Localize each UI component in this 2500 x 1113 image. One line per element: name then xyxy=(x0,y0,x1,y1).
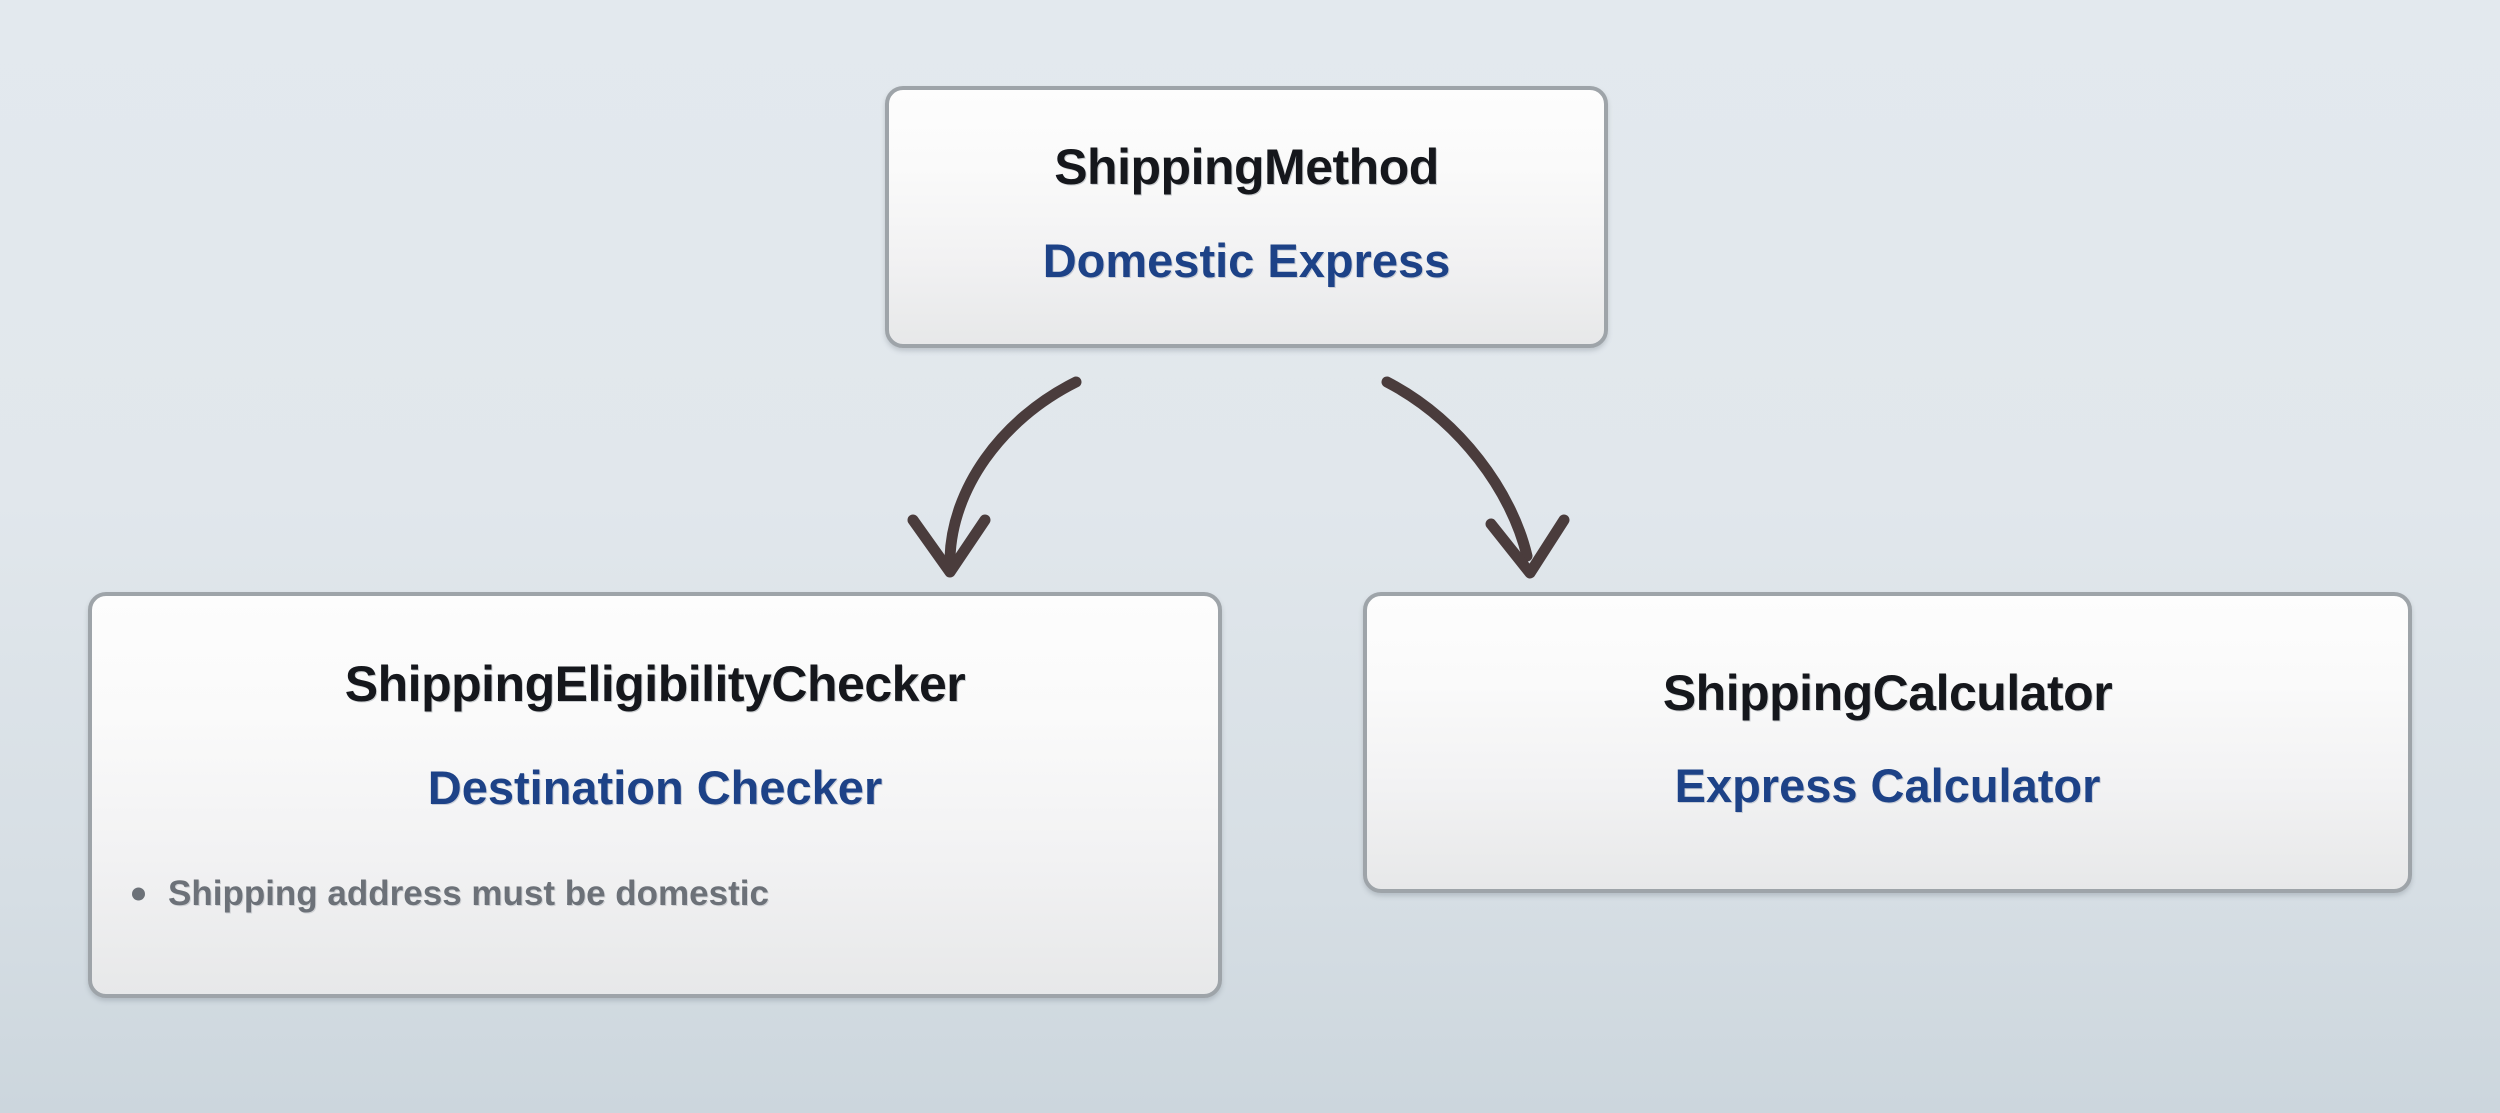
list-item: Shipping address must be domestic xyxy=(110,874,1200,914)
diagram-canvas: ShippingMethod Domestic Express Shipping… xyxy=(0,0,2500,1113)
node-title: ShippingCalculator xyxy=(1663,667,2112,720)
bullet-icon xyxy=(132,887,145,900)
node-title: ShippingEligibilityChecker xyxy=(345,658,965,711)
connector-root-to-checker xyxy=(913,382,1076,572)
node-subtitle: Destination Checker xyxy=(428,763,882,812)
node-rule-label: Shipping address must be domestic xyxy=(168,874,769,913)
node-subtitle: Domestic Express xyxy=(1043,236,1451,285)
connector-root-to-calculator xyxy=(1387,382,1564,573)
node-shipping-method[interactable]: ShippingMethod Domestic Express xyxy=(885,86,1608,348)
node-rule-list: Shipping address must be domestic xyxy=(110,874,1200,914)
node-subtitle: Express Calculator xyxy=(1675,761,2101,810)
node-shipping-eligibility-checker[interactable]: ShippingEligibilityChecker Destination C… xyxy=(88,592,1222,998)
node-title: ShippingMethod xyxy=(1054,141,1439,194)
node-shipping-calculator[interactable]: ShippingCalculator Express Calculator xyxy=(1363,592,2412,893)
